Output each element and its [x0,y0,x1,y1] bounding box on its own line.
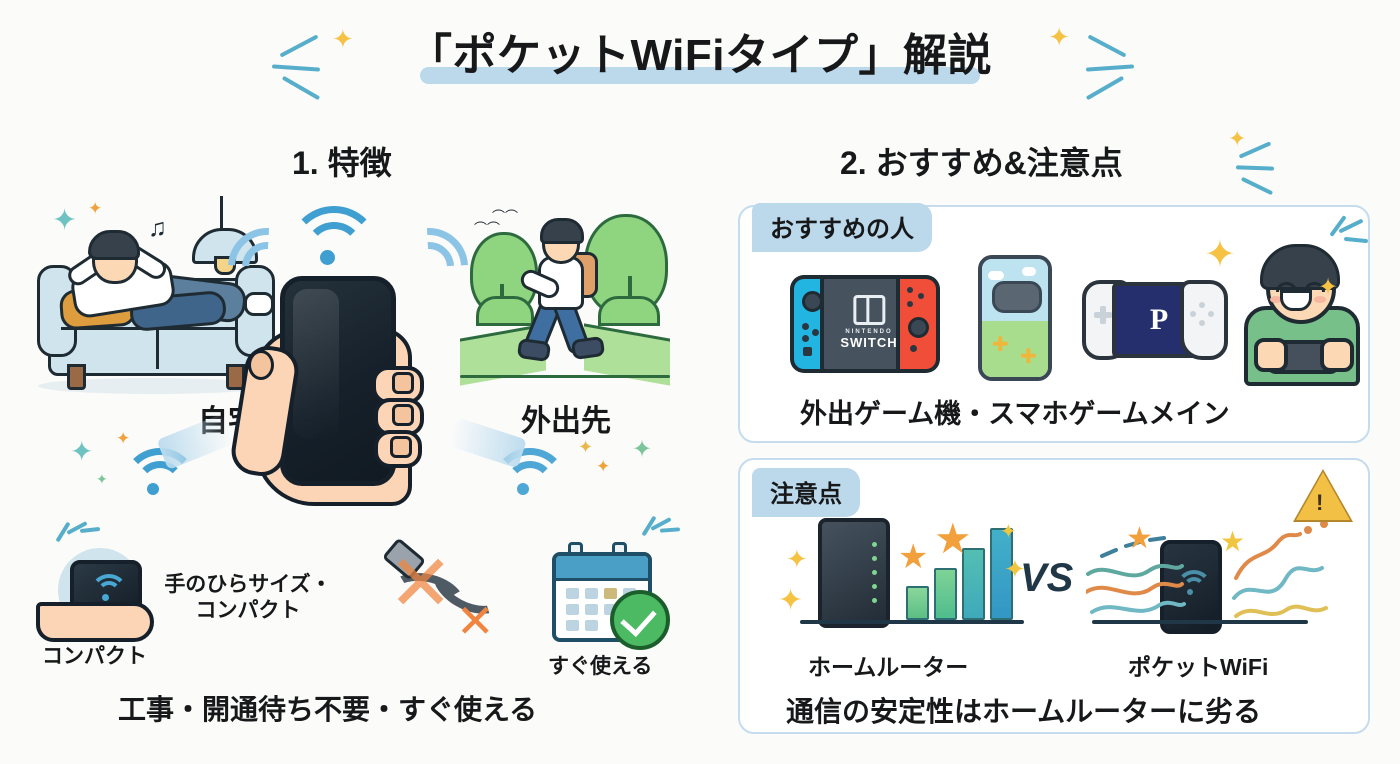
playstation-logo: P [1150,303,1168,337]
smartphone-game-icon: ✚ ✚ [978,255,1052,381]
left-caption: 工事・開通待ち不要・すぐ使える [118,688,537,728]
badge-caution: 注意点 [752,468,860,517]
plus-icon-b: ✚ [1020,347,1037,367]
home-router-icon [818,518,890,628]
text-compact: 手のひらサイズ・ コンパクト [158,572,338,623]
label-ready: すぐ使える [548,650,652,680]
sparkle-icon-router-b: ✦ [778,586,803,616]
sparkle-icon-gamer-b: ✦ [1318,276,1338,300]
music-note-icon: ♫ [148,214,167,243]
sparkle-icon-home-b: ✦ [88,200,102,217]
sparkle-rays-gamer [1322,222,1368,262]
sparkle-icon-right-c: ✦ [632,438,652,462]
hand-thumb-nail [248,350,274,380]
outside-scene: ⌒⌒ ⌒⌒ 外出先 [460,200,670,400]
game-controller-icon [992,281,1042,313]
wifi-icon-device [90,574,122,598]
hand-finger-nail-2 [392,404,414,426]
sparkle-icon-right-b: ✦ [596,458,610,475]
sparkle-icon-gamer-a: ✦ [1204,236,1236,274]
section-heading-recommend: 2. おすすめ&注意点 [840,138,1123,184]
label-compact: コンパクト [42,640,147,670]
gamer-mouth [1280,290,1312,311]
sparkle-icon-right-a: ✦ [578,438,593,456]
title-block: ✦ 「ポケットWiFiタイプ」解説 ✦ [0,22,1400,90]
chart-bar-2 [934,568,957,620]
hand-finger-nail-1 [392,372,414,394]
motion-trail-left [157,414,234,470]
features-panel: ✦ ✦ ♫ 自宅 ⌒⌒ [0,190,700,750]
sparkle-icon-home-a: ✦ [52,206,77,236]
label-home-router: ホームルーター [808,648,968,682]
cross-icon-large: ✕ [388,544,453,622]
label-outside: 外出先 [521,396,611,440]
sparkle-icon-router-a: ✦ [786,546,808,572]
star-icon-router-c: ✦ [1000,522,1017,542]
vs-label: VS [1020,556,1073,601]
caution-caption: 通信の安定性はホームルーターに劣る [786,690,1261,730]
hand-finger-nail-3 [390,436,412,458]
sparkle-rays-right [1038,28,1128,108]
open-hand-icon [36,602,154,642]
page-title: 「ポケットWiFiタイプ」解説 [408,22,992,90]
person-hair [88,230,140,260]
warning-exclamation: ! [1316,492,1323,514]
star-icon-router-a: ★ [898,540,928,574]
star-icon-router-b: ★ [934,518,972,560]
playstation-portal-icon: P [1082,280,1228,354]
text-compact-line1: 手のひらサイズ・ [164,573,331,596]
lamp-cord [220,196,223,230]
sparkle-icon-left-b: ✦ [116,430,130,447]
switch-logo: NINTENDO SWITCH [840,295,897,350]
nintendo-switch-icon: NINTENDO SWITCH [790,275,940,365]
check-circle-icon [610,590,670,650]
star-icon-pocket-b: ★ [1220,528,1245,556]
sparkle-icon-left-a: ✦ [70,438,93,466]
switch-joycon-right [896,275,940,373]
section-heading-features: 1. 特徴 [292,138,392,184]
path-line [460,375,670,378]
infographic-root: ✦ 「ポケットWiFiタイプ」解説 ✦ 1. 特徴 2. おすすめ&注意点 ✦ … [0,0,1400,764]
chart-bar-1 [906,586,929,620]
router-baseline [800,620,1024,624]
walker-hair [540,218,584,244]
bush-left [476,296,534,326]
bird-icon-b: ⌒⌒ [492,206,518,225]
cross-icon-small: ✕ [456,598,495,644]
star-icon-pocket-a: ★ [1126,524,1153,554]
sparkle-icon-left: ✦ [332,26,354,52]
gamer-hand-right [1320,338,1354,372]
sparkle-rays-left [278,28,368,108]
pocket-baseline [1092,620,1308,624]
hand-phone-scene [232,190,462,520]
recommend-caption: 外出ゲーム機・スマホゲームメイン [800,392,1230,431]
text-compact-line2: コンパクト [196,599,301,622]
portal-grip-right [1180,280,1228,360]
sparkle-icon-left-c: ✦ [96,472,108,486]
switch-brand-large: SWITCH [840,335,897,350]
bush-right [598,296,660,326]
label-pocket-wifi: ポケットWiFi [1128,648,1268,682]
gamer-hand-left [1254,338,1288,372]
badge-recommend: おすすめの人 [752,203,932,252]
sparkle-rays-ready [634,522,682,556]
plus-icon-a: ✚ [992,335,1009,355]
